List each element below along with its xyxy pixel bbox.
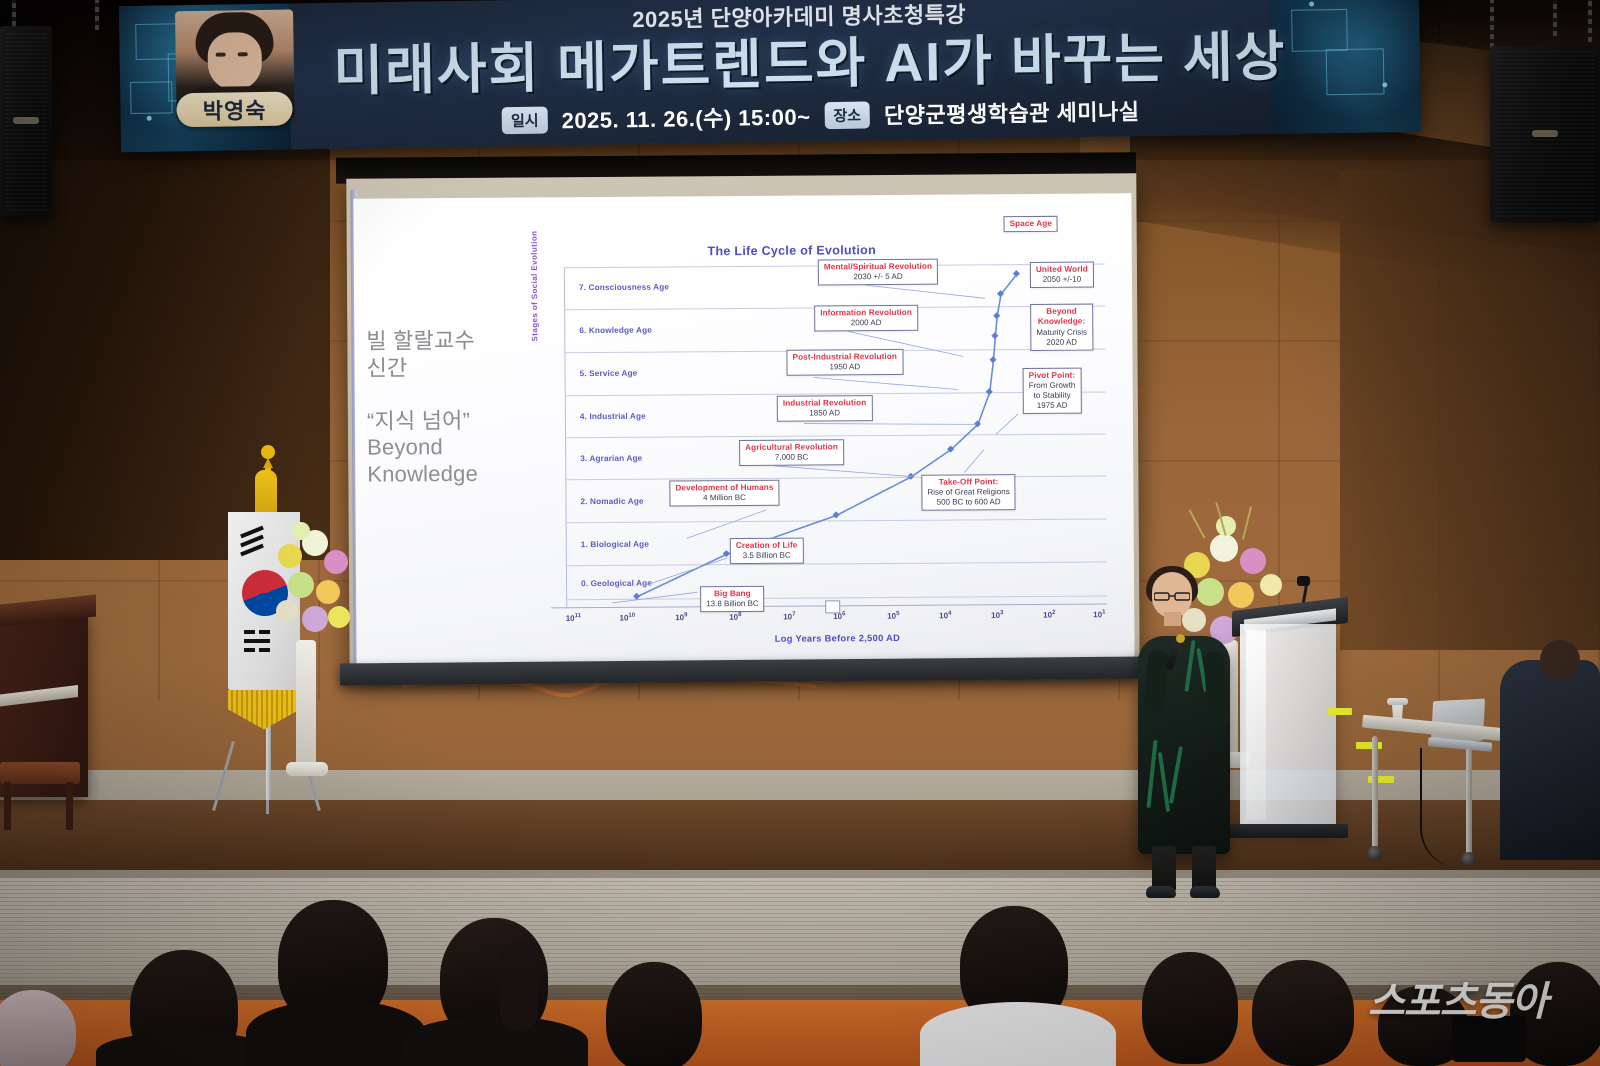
annotation-pivot-point: Pivot Point: From Growth to Stability 19… <box>1023 368 1082 415</box>
date-chip-label: 일시 <box>502 106 548 134</box>
speaker-logo <box>13 117 39 124</box>
annotation-mental-spiritual-revolution: Mental/Spiritual Revolution 2030 +/- 5 A… <box>818 259 938 286</box>
table-caster-left <box>1368 846 1382 860</box>
annotation-title: Mental/Spiritual Revolution <box>824 262 932 273</box>
seated-attendee <box>1500 660 1600 860</box>
audience-head <box>1142 952 1238 1064</box>
speaker-chain-right-3 <box>1588 0 1592 42</box>
watermark-logo: 스포츠동아 <box>1368 972 1578 1032</box>
place-text: 단양군평생학습관 세미나실 <box>884 94 1140 130</box>
flower-stand-left-base <box>286 762 328 776</box>
chart-x-tick-2: 109 <box>675 612 687 622</box>
audience-head <box>606 962 702 1066</box>
annotation-detail: 2000 AD <box>820 318 912 329</box>
annotation-title: United World <box>1036 265 1088 276</box>
slide-text-line2: 신간 <box>366 354 551 382</box>
ceiling-speaker-left <box>0 26 52 216</box>
annotation-title-2: Knowledge: <box>1036 317 1087 328</box>
speaker-chain-left <box>95 0 99 30</box>
annotation-title: Beyond <box>1036 307 1087 318</box>
annotation-title: Big Bang <box>706 589 759 600</box>
annotation-beyond-knowledge: Beyond Knowledge: Maturity Crisis 2020 A… <box>1030 304 1093 351</box>
slide-text-line3: “지식 넘어” <box>367 407 552 435</box>
annotation-creation-of-life: Creation of Life 3.5 Billion BC <box>730 538 804 565</box>
chart-x-tick-5: 106 <box>833 611 845 621</box>
chart-x-tick-9: 102 <box>1043 610 1055 620</box>
chart-x-tick-6: 105 <box>887 611 899 621</box>
annotation-title: Pivot Point: <box>1029 371 1076 382</box>
annotation-title: Space Age <box>1010 219 1053 230</box>
stage-apron-texture <box>0 878 1600 998</box>
piano-bench-leg-left <box>4 782 11 830</box>
audience-raised-arm <box>500 942 538 1030</box>
slide-text-line1: 빌 할랄교수 <box>366 327 551 355</box>
annotation-detail: Rise of Great Religions <box>927 487 1009 498</box>
chart-y-axis-label: Stages of Social Evolution <box>530 231 540 342</box>
annotation-detail: 4 Million BC <box>675 493 773 504</box>
portrait-face <box>207 32 262 91</box>
annotation-information-revolution: Information Revolution 2000 AD <box>814 305 918 332</box>
yellow-tape-marker-1 <box>1328 708 1352 715</box>
annotation-title: Creation of Life <box>736 541 798 552</box>
power-cable <box>1420 748 1482 868</box>
annotation-development-of-humans: Development of Humans 4 Million BC <box>669 480 779 507</box>
chart-x-tick-4: 107 <box>783 612 795 622</box>
chart-x-tick-0: 1011 <box>566 613 581 623</box>
chart-x-tick-1: 1010 <box>619 613 635 623</box>
trigram-bottom-left-1 <box>244 630 255 634</box>
annotation-detail: 13.8 Billion BC <box>706 599 759 609</box>
annotation-united-world: United World 2050 +/-10 <box>1030 262 1094 289</box>
glasses-icon <box>1154 592 1190 601</box>
banner-title: 미래사회 메가트렌드와 AI가 바꾸는 세상 <box>279 11 1340 107</box>
place-chip-label: 장소 <box>824 101 870 129</box>
yellow-tape-marker-2 <box>1356 742 1382 749</box>
presenter-shoe-right <box>1190 886 1220 898</box>
audience-head <box>1252 960 1354 1066</box>
annotation-title: Development of Humans <box>675 483 773 494</box>
annotation-detail: 7,000 BC <box>745 453 838 464</box>
flower-stand-left <box>296 640 316 770</box>
podium-microphone-head-icon <box>1297 576 1310 586</box>
annotation-detail-2: 500 BC to 600 AD <box>927 497 1009 508</box>
annotation-detail: Maturity Crisis <box>1036 327 1087 337</box>
chart-x-tick-7: 104 <box>939 611 951 621</box>
speaker-logo <box>1532 130 1558 137</box>
annotation-title: Post-Industrial Revolution <box>792 352 897 363</box>
podium-highlight <box>1246 630 1266 820</box>
annotation-post-industrial-revolution: Post-Industrial Revolution 1950 AD <box>786 349 903 376</box>
speaker-chain-right-2 <box>1553 0 1557 36</box>
annotation-title: Take-Off Point: <box>927 477 1009 488</box>
seated-attendee-head <box>1540 640 1580 680</box>
slide-left-text: 빌 할랄교수 신간 “지식 넘어” Beyond Knowledge <box>366 327 552 488</box>
annotation-take-off-point: Take-Off Point: Rise of Great Religions … <box>921 474 1016 511</box>
trigram-bottom-left-2 <box>244 639 270 643</box>
speaker-name-chip: 박영숙 <box>176 92 293 128</box>
slide-text-line4: Beyond <box>367 434 552 462</box>
annotation-title: Industrial Revolution <box>783 398 867 409</box>
trigram-bottom-left-3b <box>259 648 270 652</box>
trigram-bottom-left-1b <box>259 630 270 634</box>
paper-cup-lid <box>1387 698 1408 705</box>
annotation-detail: 3.5 Billion BC <box>736 551 798 561</box>
slide-text-line5: Knowledge <box>367 461 552 489</box>
flower-bouquet-left <box>272 520 356 650</box>
annotation-industrial-revolution: Industrial Revolution 1850 AD <box>777 395 873 422</box>
annotation-detail: From Growth <box>1029 381 1076 391</box>
chart-title: The Life Cycle of Evolution <box>532 242 1052 260</box>
chart-x-tick-10: 101 <box>1093 609 1105 619</box>
audience-shoulder <box>246 1000 426 1066</box>
annotation-space-age: Space Age <box>1004 216 1059 233</box>
annotation-detail: 2030 +/- 5 AD <box>824 272 932 283</box>
annotation-detail: 2050 +/-10 <box>1036 275 1088 285</box>
speaker-chain-left-2 <box>12 0 16 26</box>
chart-x-axis-label: Log Years Before 2,500 AD <box>567 631 1107 645</box>
portrait-eye-left <box>216 53 226 57</box>
stage-front-panel <box>0 800 1600 870</box>
wall-shadow-right <box>1340 170 1600 650</box>
annotation-detail-2: 2020 AD <box>1036 337 1087 347</box>
podium-base <box>1228 824 1348 838</box>
chart-x-tick-8: 103 <box>991 610 1003 620</box>
annotation-agricultural-revolution: Agricultural Revolution 7,000 BC <box>739 439 844 466</box>
projection-screen: 빌 할랄교수 신간 “지식 넘어” Beyond Knowledge The L… <box>353 193 1134 668</box>
audience-shoulder <box>404 1016 588 1066</box>
microphone-tip-icon <box>1176 634 1185 643</box>
ceiling-speaker-right <box>1490 46 1600 222</box>
annotation-detail-3: 1975 AD <box>1029 401 1076 411</box>
event-banner: 박영숙 2025년 단양아카데미 명사초청특강 미래사회 메가트렌드와 AI가 … <box>119 0 1421 152</box>
table-leg-left <box>1372 736 1378 848</box>
piano-bench-leg-right <box>66 782 73 830</box>
portrait-eye-right <box>238 52 248 56</box>
photo-scene: 박영숙 2025년 단양아카데미 명사초청특강 미래사회 메가트렌드와 AI가 … <box>0 0 1600 1066</box>
annotation-title: Agricultural Revolution <box>745 442 838 453</box>
annotation-detail: 1850 AD <box>783 408 867 419</box>
piano-bench <box>0 762 80 784</box>
presenter-neck <box>1164 612 1181 626</box>
annotation-big-bang: Big Bang 13.8 Billion BC <box>700 586 765 613</box>
life-cycle-chart: The Life Cycle of Evolution Stages of So… <box>531 207 1128 659</box>
chart-x-tick-3: 108 <box>729 612 741 622</box>
trigram-bottom-left-3 <box>244 648 255 652</box>
presenter-shoe-left <box>1146 886 1176 898</box>
speaker-chain-right-1 <box>1490 0 1494 48</box>
annotation-detail-2: to Stability <box>1029 391 1076 401</box>
date-text: 2025. 11. 26.(수) 15:00~ <box>561 99 810 135</box>
annotation-title: Information Revolution <box>820 308 912 319</box>
audience-shoulder <box>920 1002 1116 1066</box>
annotation-detail: 1950 AD <box>793 362 898 373</box>
